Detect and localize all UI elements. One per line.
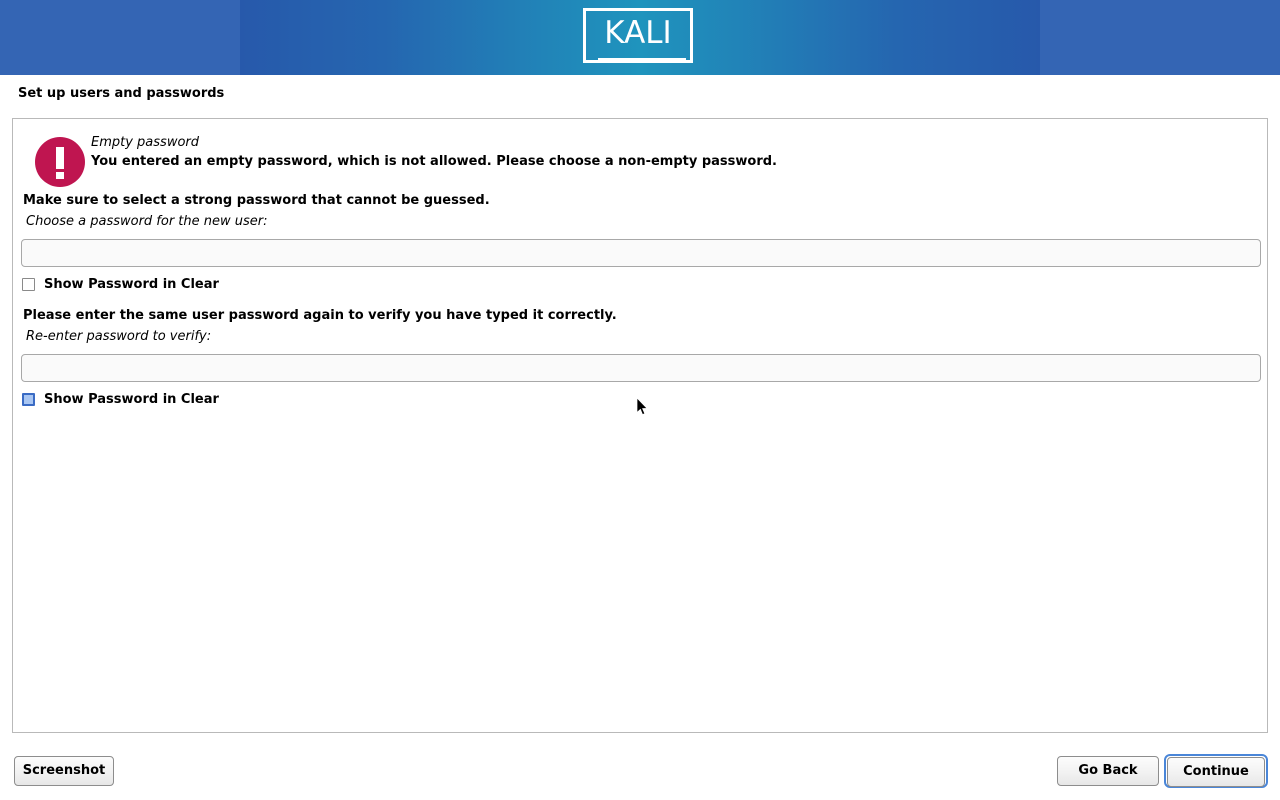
error-message: You entered an empty password, which is …	[91, 154, 777, 169]
password-section-heading: Make sure to select a strong password th…	[23, 193, 490, 208]
password-input[interactable]	[21, 239, 1261, 267]
error-icon-dot	[56, 172, 64, 179]
error-icon-bar	[56, 147, 64, 169]
show-password-checkbox-2[interactable]	[22, 393, 35, 406]
continue-button[interactable]: Continue	[1167, 757, 1265, 787]
show-password-checkbox-1[interactable]	[22, 278, 35, 291]
error-exclamation-icon	[35, 137, 85, 187]
verify-section-heading: Please enter the same user password agai…	[23, 308, 617, 323]
password-field-label: Choose a password for the new user:	[26, 214, 268, 229]
kali-installer-window: KALI Set up users and passwords Empty pa…	[0, 0, 1280, 800]
screenshot-button[interactable]: Screenshot	[14, 756, 114, 786]
error-title: Empty password	[91, 135, 199, 150]
content-frame: Empty password You entered an empty pass…	[12, 118, 1268, 733]
show-password-checkbox-label-2: Show Password in Clear	[44, 392, 219, 407]
show-password-checkbox-row-2[interactable]: Show Password in Clear	[22, 392, 219, 407]
kali-logo-text: KALI	[583, 8, 693, 63]
show-password-checkbox-row-1[interactable]: Show Password in Clear	[22, 277, 219, 292]
verify-password-input[interactable]	[21, 354, 1261, 382]
kali-logo: KALI	[583, 8, 697, 67]
verify-field-label: Re-enter password to verify:	[26, 329, 211, 344]
installer-banner: KALI	[0, 0, 1280, 75]
page-title: Set up users and passwords	[18, 86, 224, 101]
show-password-checkbox-label-1: Show Password in Clear	[44, 277, 219, 292]
go-back-button[interactable]: Go Back	[1057, 756, 1159, 786]
